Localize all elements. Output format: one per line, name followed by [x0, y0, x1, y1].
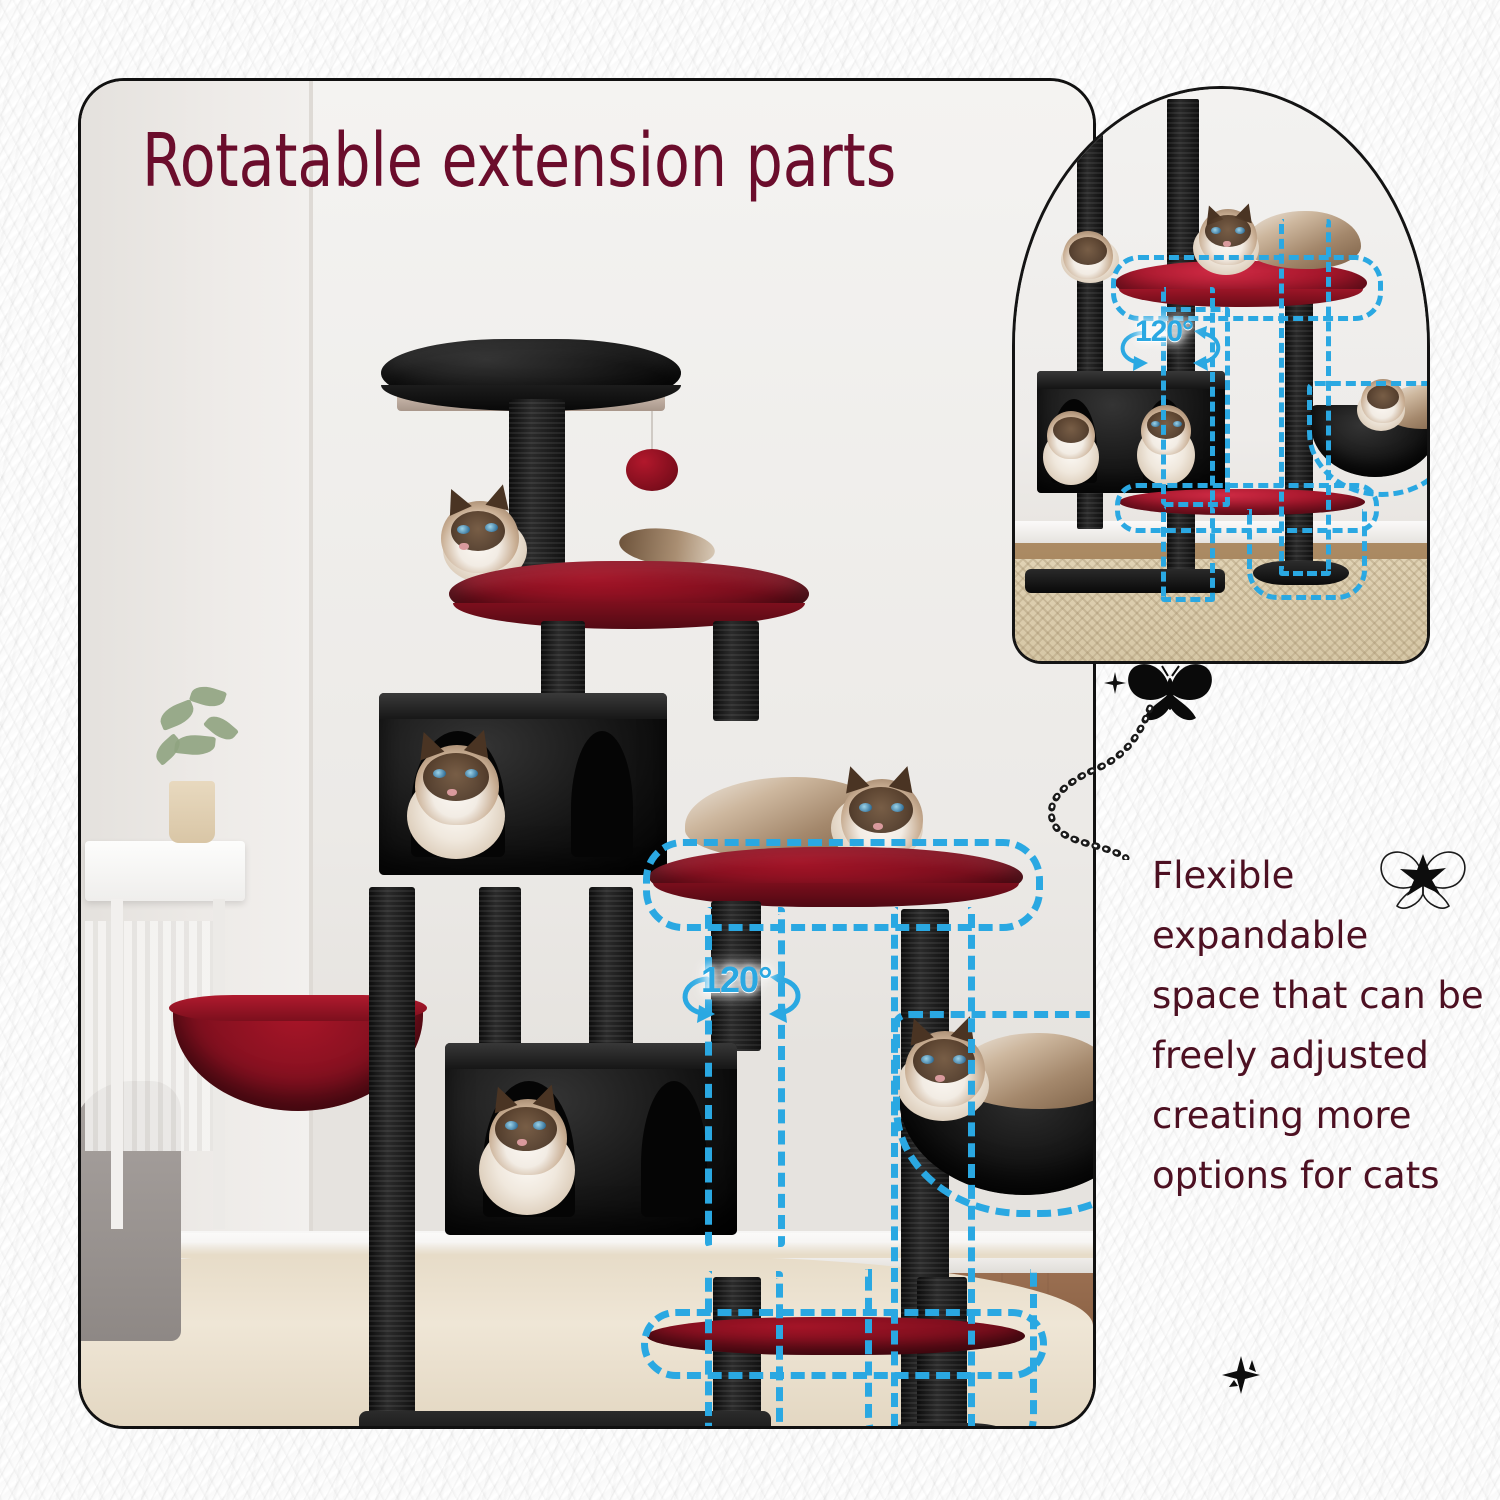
side-text-line-3: space that can be: [1152, 966, 1482, 1026]
lower-condo-roof: [445, 1043, 737, 1069]
rotation-badge-120-main: 120°: [667, 957, 817, 1031]
page-title: Rotatable extension parts: [142, 124, 896, 198]
highlight-outline-support-base: [865, 1269, 1037, 1429]
sparkle-icon-small: [1104, 672, 1126, 694]
highlight-outline-middle-platform: [643, 839, 1043, 931]
cat-in-lower-condo: [479, 1081, 583, 1219]
side-text-line-6: options for cats: [1152, 1146, 1482, 1206]
sisal-post-mid-b: [589, 887, 633, 1047]
highlight-outline-bottom-post: [705, 1271, 783, 1429]
upper-condo-roof: [379, 693, 667, 719]
side-description-text: Flexible expandable space that can be fr…: [1152, 846, 1482, 1206]
console-table-leg-left: [111, 899, 123, 1229]
sisal-post-upper-right: [713, 621, 759, 721]
potted-plant: [153, 679, 245, 787]
side-text-line-5: creating more: [1152, 1086, 1482, 1146]
cat-in-upper-condo: [407, 731, 517, 863]
inset-highlight-lower-post: [1161, 507, 1215, 602]
main-product-photo-panel: 120°: [78, 78, 1096, 1429]
inset-closeup-panel: 120°: [1012, 86, 1430, 664]
side-text-line-1: Flexible: [1152, 846, 1482, 906]
inset-cat-in-condo-left: [1043, 403, 1103, 489]
pom-pom-string: [651, 411, 653, 453]
inset-highlight-top-platform: [1111, 255, 1383, 321]
sisal-post-main-left: [369, 887, 415, 1427]
plant-pot: [169, 781, 215, 843]
rotation-badge-label-inset: 120°: [1135, 315, 1193, 349]
rotation-badge-label-main: 120°: [701, 959, 771, 1001]
side-text-line-4: freely adjusted: [1152, 1026, 1482, 1086]
rotation-badge-120-inset: 120°: [1105, 315, 1235, 375]
sisal-post-mid-a: [479, 887, 521, 1047]
chain-trail-decoration: [1010, 700, 1170, 860]
side-text-line-2: expandable: [1152, 906, 1482, 966]
sparkle-icon-bottom: [1222, 1356, 1260, 1394]
console-table: [85, 841, 245, 901]
inset-highlight-support-base: [1247, 509, 1367, 600]
